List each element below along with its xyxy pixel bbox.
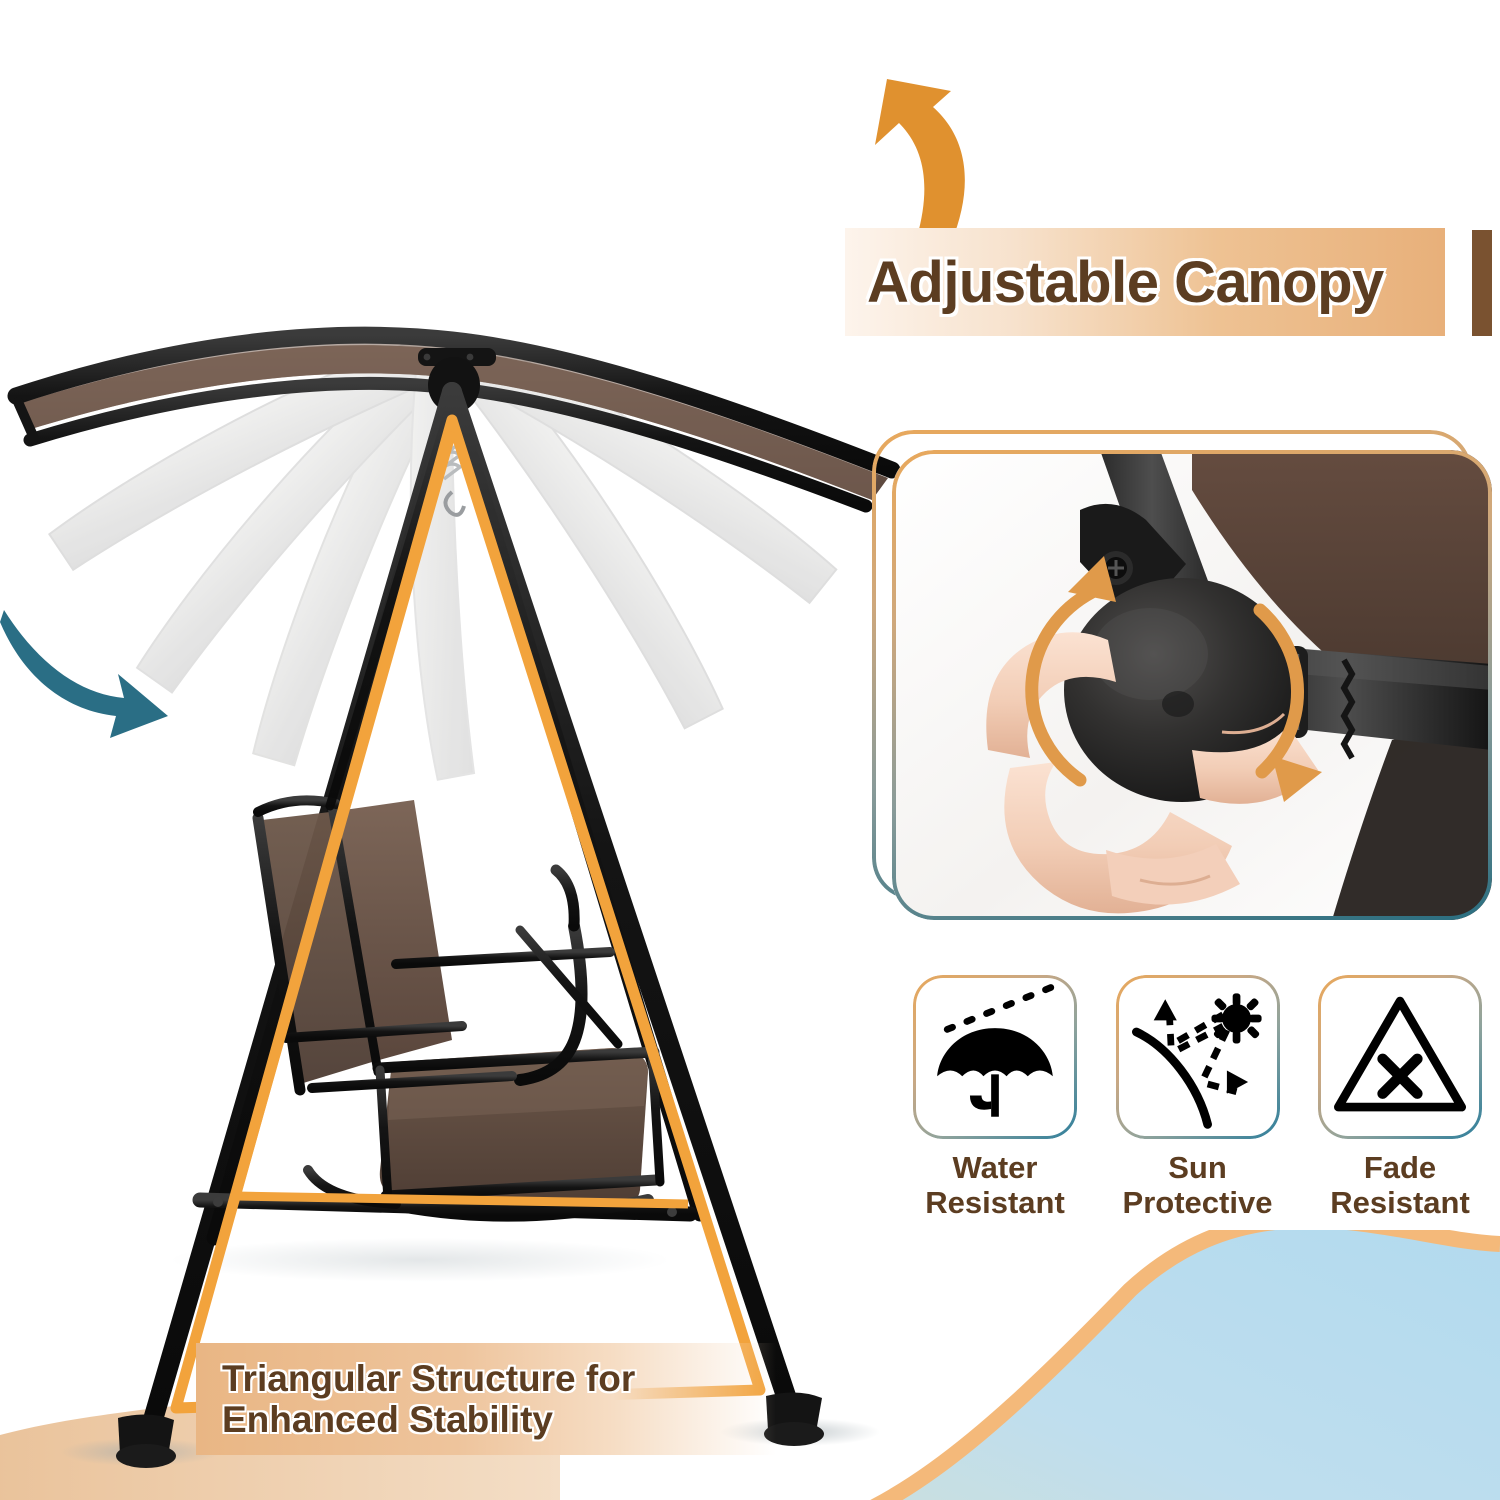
feature-label-water: Water Resistant — [925, 1151, 1065, 1220]
umbrella-rain-icon — [913, 975, 1077, 1139]
page-title: Adjustable Canopy — [867, 249, 1384, 316]
knob-detail-inset — [872, 430, 1492, 920]
title-banner: Adjustable Canopy — [845, 228, 1445, 336]
feature-label-sun: Sun Protective — [1123, 1151, 1273, 1220]
inset-inner-border — [892, 450, 1492, 920]
feature-label-fade: Fade Resistant — [1330, 1151, 1470, 1220]
infographic-canvas: Adjustable Canopy Triangular Structure f… — [0, 0, 1500, 1500]
caption-line-1: Triangular Structure for — [222, 1358, 776, 1399]
swing-frame — [116, 392, 824, 1468]
feature-card-fade-resistant: Fade Resistant — [1310, 975, 1490, 1240]
no-fade-triangle-icon — [1318, 975, 1482, 1139]
feature-card-sun-protective: Sun Protective — [1108, 975, 1288, 1240]
stability-caption: Triangular Structure for Enhanced Stabil… — [196, 1343, 776, 1455]
caption-line-2: Enhanced Stability — [222, 1399, 776, 1440]
porch-swing-product — [0, 0, 900, 1500]
sun-deflect-icon — [1116, 975, 1280, 1139]
canopy-up-arrow-wrap — [825, 65, 1005, 250]
feature-row: Water Resistant — [905, 975, 1490, 1240]
title-accent-bar — [1472, 230, 1492, 336]
feature-card-water-resistant: Water Resistant — [905, 975, 1085, 1240]
canopy-down-arrow-wrap — [0, 588, 185, 748]
